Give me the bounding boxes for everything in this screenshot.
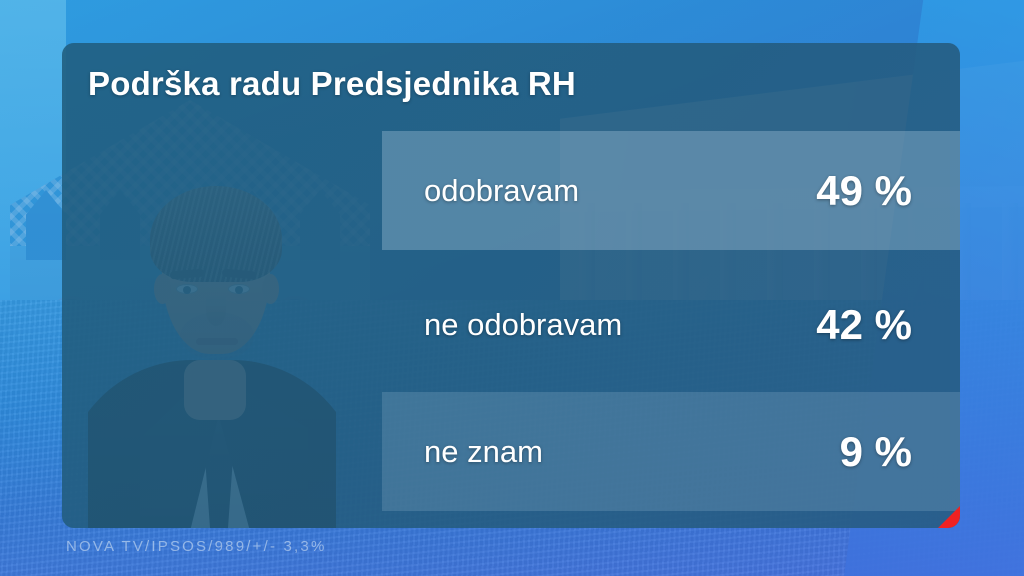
result-value: 42 % bbox=[816, 301, 912, 349]
result-label: odobravam bbox=[424, 173, 579, 209]
result-row-dontknow: ne znam 9 % bbox=[382, 392, 960, 511]
result-value: 49 % bbox=[816, 167, 912, 215]
result-row-approve: odobravam 49 % bbox=[382, 131, 960, 250]
page-title: Podrška radu Predsjednika RH bbox=[88, 65, 576, 103]
result-value: 9 % bbox=[840, 428, 912, 476]
source-credit: NOVA TV/IPSOS/989/+/- 3,3% bbox=[66, 538, 327, 555]
result-label: ne znam bbox=[424, 434, 543, 470]
result-row-disapprove: ne odobravam 42 % bbox=[382, 265, 960, 384]
poll-results-panel: Podrška radu Predsjednika RH odobravam 4… bbox=[62, 43, 960, 528]
results-list: odobravam 49 % ne odobravam 42 % ne znam… bbox=[382, 131, 960, 528]
result-label: ne odobravam bbox=[424, 307, 622, 343]
